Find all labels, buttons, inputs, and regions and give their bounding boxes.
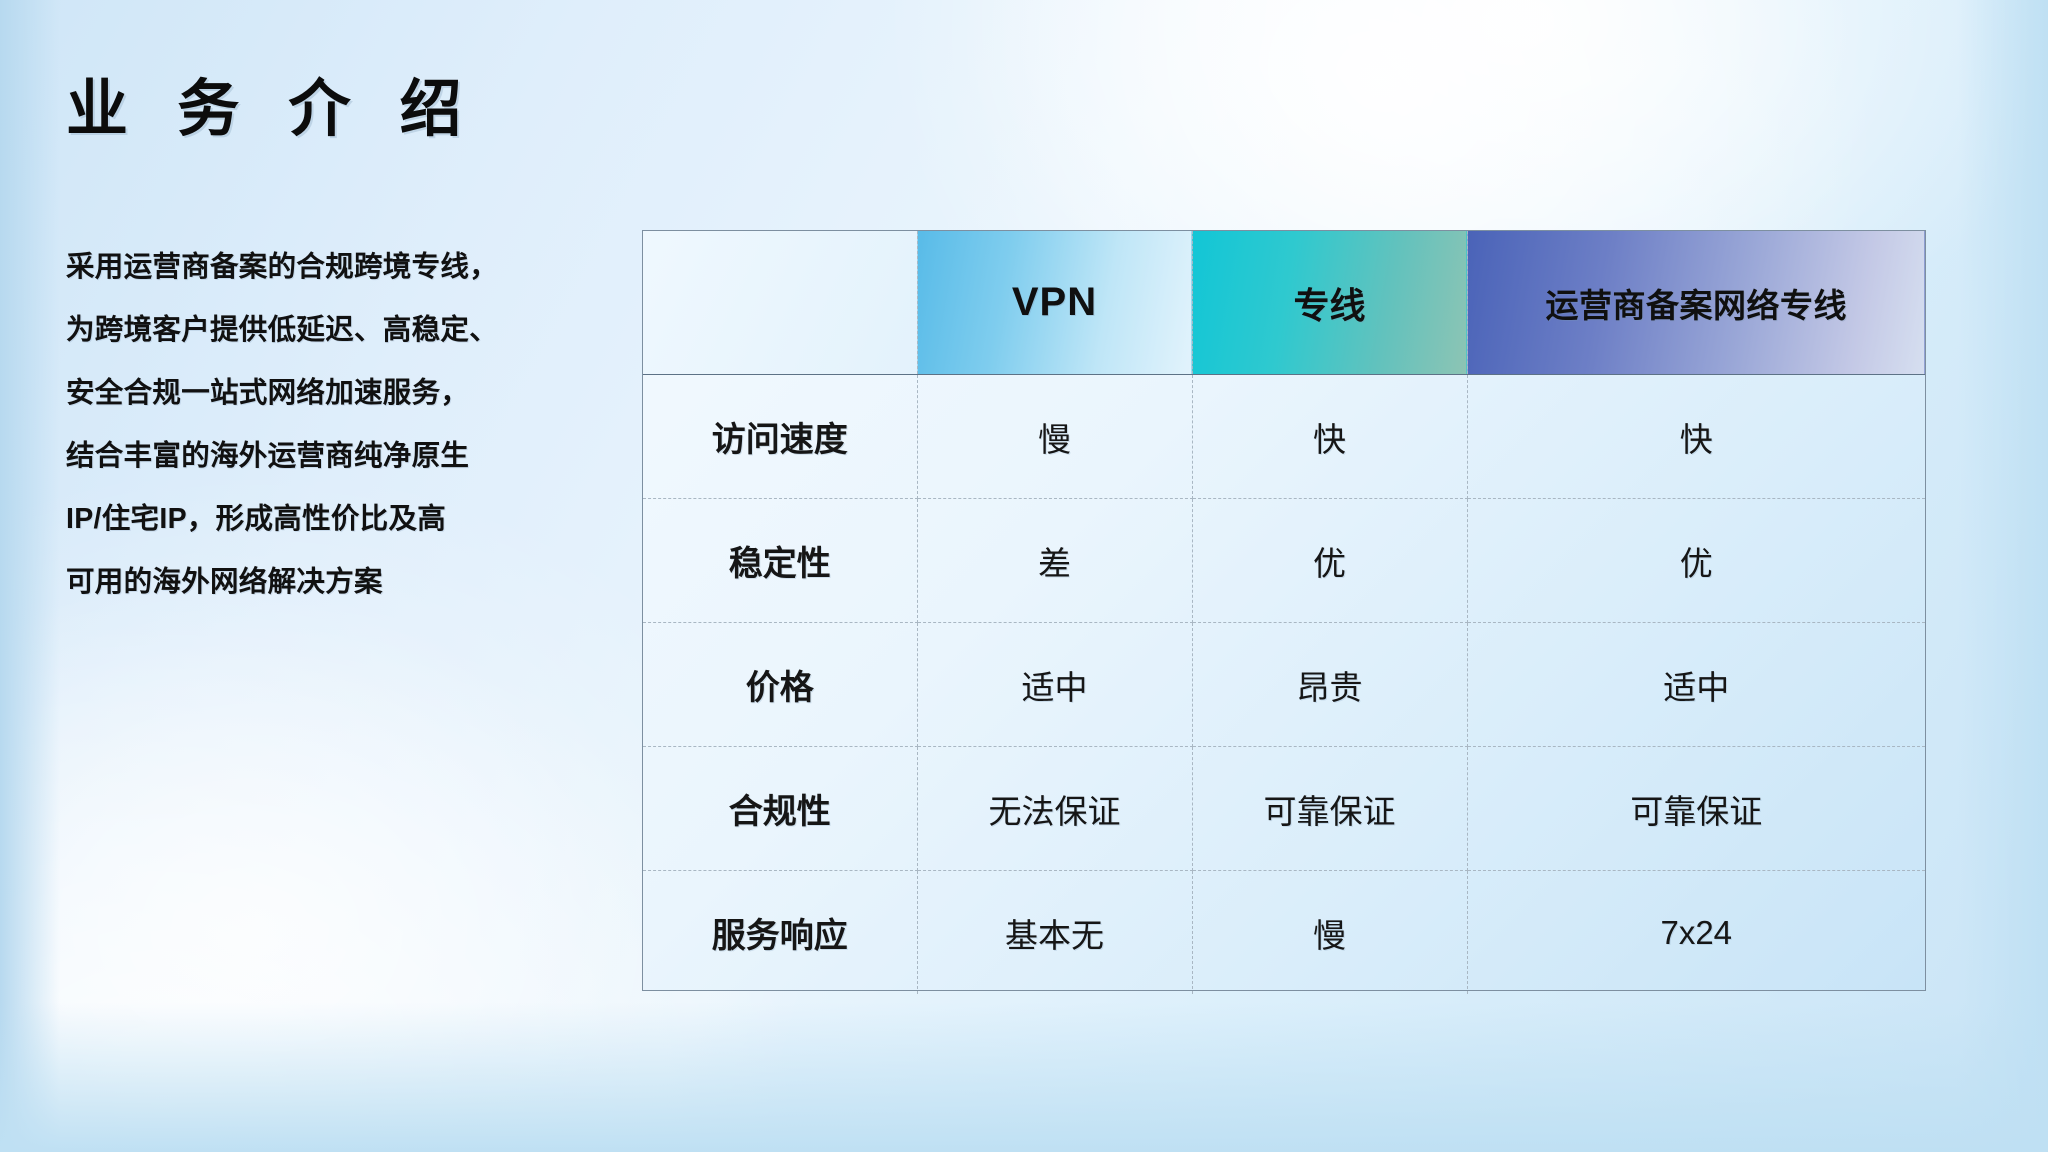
- cell-service-response-line: 慢: [1192, 871, 1467, 995]
- table-header-dedicated-line-label: 专线: [1293, 285, 1365, 326]
- table-header-registered-line-label: 运营商备案网络专线: [1546, 287, 1848, 324]
- table-row: 合规性 无法保证 可靠保证 可靠保证: [643, 747, 1925, 871]
- description-line: 可用的海外网络解决方案: [66, 551, 626, 614]
- table-header-registered-line: 运营商备案网络专线: [1467, 231, 1925, 375]
- comparison-table: VPN 专线 运营商备案网络专线 访问速度 慢 快 快: [643, 231, 1925, 994]
- background-edge-bottom: [0, 1002, 2048, 1152]
- cell-stability-vpn: 差: [917, 499, 1192, 623]
- cell-service-response-vpn: 基本无: [917, 871, 1192, 995]
- table-row: 稳定性 差 优 优: [643, 499, 1925, 623]
- cell-price-line: 昂贵: [1192, 623, 1467, 747]
- description-line: 采用运营商备案的合规跨境专线，: [66, 236, 626, 299]
- table-row: 服务响应 基本无 慢 7x24: [643, 871, 1925, 995]
- cell-stability-biz: 优: [1467, 499, 1925, 623]
- table-header-row: VPN 专线 运营商备案网络专线: [643, 231, 1925, 375]
- description-line: 安全合规一站式网络加速服务，: [66, 362, 626, 425]
- table-row: 访问速度 慢 快 快: [643, 375, 1925, 499]
- cell-price-biz: 适中: [1467, 623, 1925, 747]
- background-edge-right: [1958, 0, 2048, 1152]
- cell-price-vpn: 适中: [917, 623, 1192, 747]
- table-header-vpn: VPN: [917, 231, 1192, 375]
- row-label-stability: 稳定性: [643, 499, 917, 623]
- cell-access-speed-line: 快: [1192, 375, 1467, 499]
- cell-compliance-line: 可靠保证: [1192, 747, 1467, 871]
- table-header-vpn-label: VPN: [1012, 280, 1097, 324]
- description-paragraph: 采用运营商备案的合规跨境专线， 为跨境客户提供低延迟、高稳定、 安全合规一站式网…: [66, 236, 626, 614]
- row-label-access-speed: 访问速度: [643, 375, 917, 499]
- description-line: IP/住宅IP，形成高性价比及高: [66, 488, 626, 551]
- cell-service-response-biz: 7x24: [1467, 871, 1925, 995]
- table-header-blank: [643, 231, 917, 375]
- description-line: 为跨境客户提供低延迟、高稳定、: [66, 299, 626, 362]
- description-line: 结合丰富的海外运营商纯净原生: [66, 425, 626, 488]
- table-body: 访问速度 慢 快 快 稳定性 差 优 优 价格 适中 昂贵 适中: [643, 375, 1925, 995]
- background-edge-left: [0, 0, 60, 1152]
- row-label-service-response: 服务响应: [643, 871, 917, 995]
- table-header-dedicated-line: 专线: [1192, 231, 1467, 375]
- slide-root: 业 务 介 绍 采用运营商备案的合规跨境专线， 为跨境客户提供低延迟、高稳定、 …: [0, 0, 2048, 1152]
- row-label-price: 价格: [643, 623, 917, 747]
- cell-compliance-vpn: 无法保证: [917, 747, 1192, 871]
- cell-compliance-biz: 可靠保证: [1467, 747, 1925, 871]
- page-title: 业 务 介 绍: [66, 58, 478, 148]
- row-label-compliance: 合规性: [643, 747, 917, 871]
- cell-access-speed-vpn: 慢: [917, 375, 1192, 499]
- cell-access-speed-biz: 快: [1467, 375, 1925, 499]
- table-row: 价格 适中 昂贵 适中: [643, 623, 1925, 747]
- comparison-table-container: VPN 专线 运营商备案网络专线 访问速度 慢 快 快: [642, 230, 1926, 991]
- cell-stability-line: 优: [1192, 499, 1467, 623]
